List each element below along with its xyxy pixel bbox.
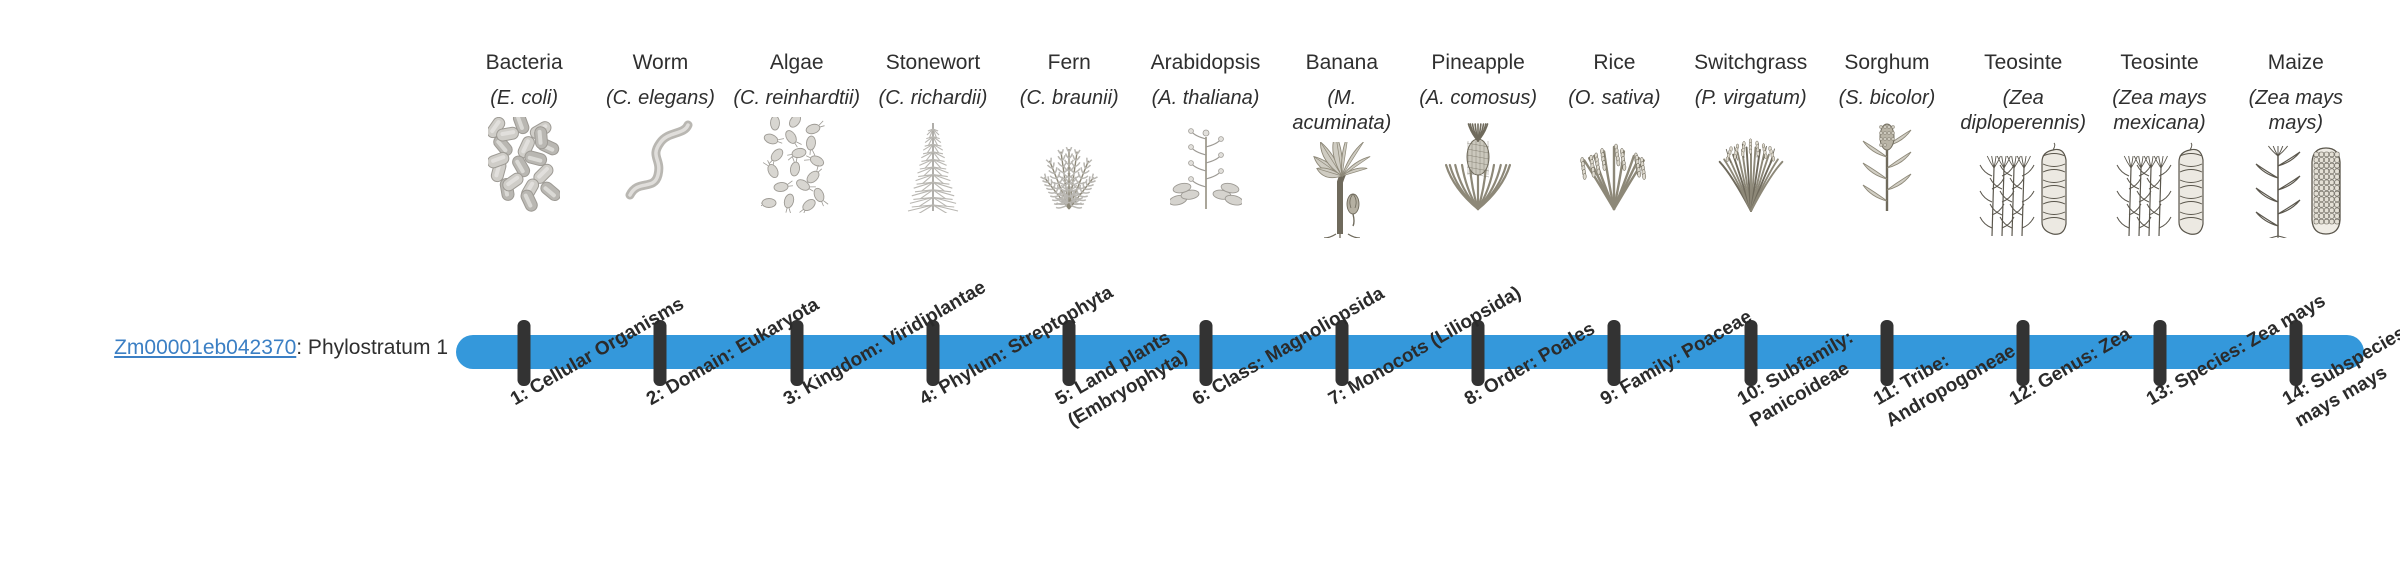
species-common-name: Algae (770, 50, 824, 76)
species-scientific-name: (S. bicolor) (1837, 86, 1938, 111)
species-column: Teosinte(Zea diploperennis) (1955, 50, 2091, 305)
stratum-number: 2: (643, 383, 668, 410)
stratum-label-layer: 1: Cellular Organisms2: Domain: Eukaryot… (456, 390, 2364, 580)
species-common-name: Rice (1593, 50, 1635, 76)
species-common-name: Teosinte (1984, 50, 2062, 76)
species-column: Sorghum(S. bicolor) (1819, 50, 1955, 305)
species-common-name: Arabidopsis (1151, 50, 1261, 76)
maize-plant-and-cob-icon (2228, 142, 2364, 238)
nematode-worm-icon (592, 117, 728, 213)
species-common-name: Banana (1306, 50, 1378, 76)
fern-frond-icon (1001, 117, 1137, 213)
stratum-number: 6: (1189, 383, 1214, 410)
rice-plant-icon (1546, 117, 1682, 213)
sorghum-plant-icon (1819, 117, 1955, 213)
gene-phylostratum-label: Zm00001eb042370: Phylostratum 1 (0, 335, 448, 361)
stonewort-alga-icon (865, 117, 1001, 213)
species-scientific-name: (O. sativa) (1566, 86, 1662, 111)
species-common-name: Pineapple (1431, 50, 1524, 76)
species-scientific-name: (Zea diploperennis) (1955, 86, 2091, 136)
species-common-name: Sorghum (1844, 50, 1929, 76)
switchgrass-clump-icon (1683, 117, 1819, 213)
phylostratum-value: : Phylostratum 1 (296, 336, 448, 359)
species-column: Arabidopsis(A. thaliana) (1137, 50, 1273, 305)
species-column: Banana(M. acuminata) (1274, 50, 1410, 305)
stratum-number: 3: (780, 383, 805, 410)
species-common-name: Fern (1048, 50, 1091, 76)
species-scientific-name: (E. coli) (488, 86, 560, 111)
stratum-number: 1: (507, 383, 532, 410)
species-common-name: Maize (2268, 50, 2324, 76)
species-scientific-name: (A. comosus) (1417, 86, 1539, 111)
stratum-number: 4: (916, 383, 941, 410)
species-column: Rice(O. sativa) (1546, 50, 1682, 305)
species-scientific-name: (C. richardii) (877, 86, 990, 111)
stratum-number: 7: (1325, 383, 1350, 410)
bacteria-rods-icon (456, 117, 592, 213)
stratum-number: 9: (1597, 383, 1622, 410)
arabidopsis-rosette-icon (1137, 117, 1273, 213)
species-scientific-name: (M. acuminata) (1274, 86, 1410, 136)
species-column: Fern(C. braunii) (1001, 50, 1137, 305)
species-column: Maize(Zea mays mays) (2228, 50, 2364, 305)
species-scientific-name: (C. braunii) (1018, 86, 1121, 111)
species-common-name: Worm (633, 50, 689, 76)
gene-id-link[interactable]: Zm00001eb042370 (114, 336, 296, 359)
banana-plant-icon (1274, 142, 1410, 238)
stratum-number: 8: (1461, 383, 1486, 410)
species-scientific-name: (Zea mays mays) (2228, 86, 2364, 136)
species-column: Worm(C. elegans) (592, 50, 728, 305)
species-column: Pineapple(A. comosus) (1410, 50, 1546, 305)
species-scientific-name: (A. thaliana) (1150, 86, 1262, 111)
teosinte-plant-and-ear-icon (1955, 142, 2091, 238)
species-header-row: Bacteria(E. coli) (456, 50, 2364, 305)
species-column: Algae(C. reinhardtii) (729, 50, 865, 305)
algae-cells-icon (729, 117, 865, 213)
species-scientific-name: (C. reinhardtii) (731, 86, 862, 111)
species-column: Switchgrass(P. virgatum) (1683, 50, 1819, 305)
species-scientific-name: (C. elegans) (604, 86, 717, 111)
teosinte-plant-and-ear-icon (2091, 142, 2227, 238)
species-column: Teosinte(Zea mays mexicana) (2091, 50, 2227, 305)
species-scientific-name: (Zea mays mexicana) (2091, 86, 2227, 136)
species-column: Stonewort(C. richardii) (865, 50, 1001, 305)
pineapple-plant-icon (1410, 117, 1546, 213)
species-common-name: Bacteria (486, 50, 563, 76)
stratum-number: 5: (1052, 383, 1077, 410)
species-scientific-name: (P. virgatum) (1693, 86, 1809, 111)
species-common-name: Stonewort (886, 50, 981, 76)
species-column: Bacteria(E. coli) (456, 50, 592, 305)
phylostratum-figure: Bacteria(E. coli) (0, 0, 2400, 580)
species-common-name: Teosinte (2120, 50, 2198, 76)
species-common-name: Switchgrass (1694, 50, 1807, 76)
